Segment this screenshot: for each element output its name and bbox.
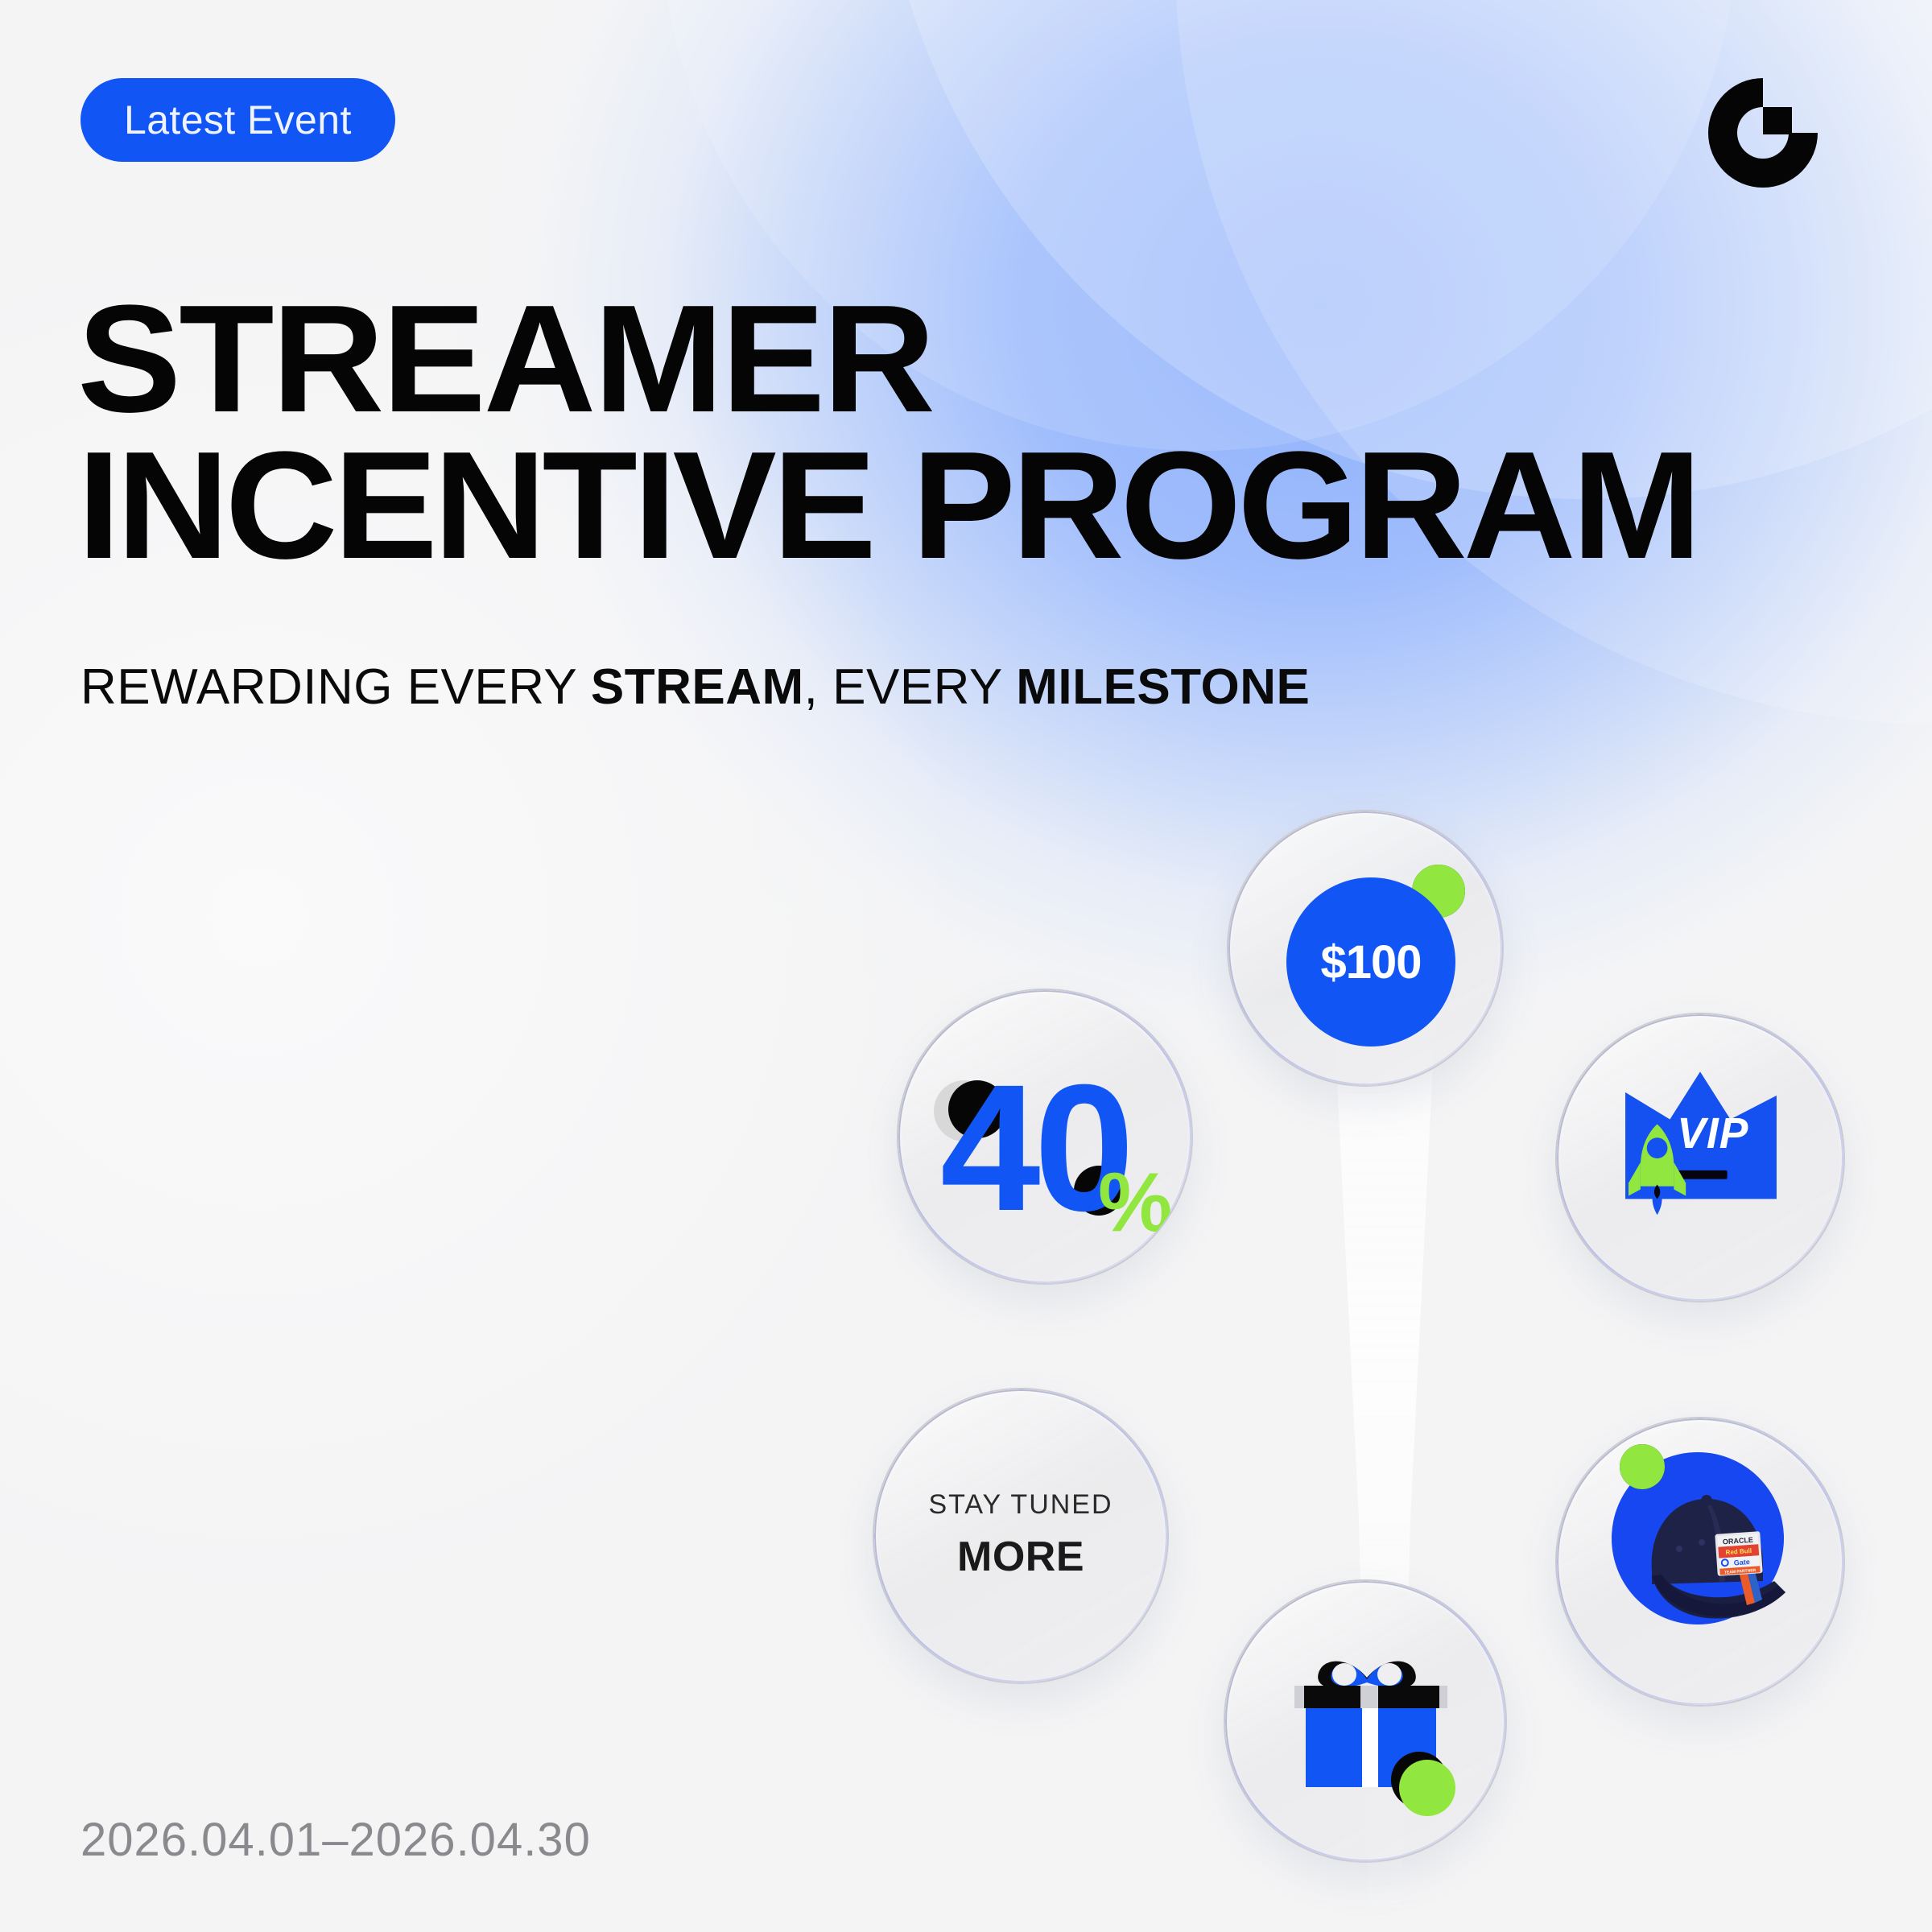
baseball-cap-icon: ORACLE Red Bull Gate TEAM PARTNER — [1557, 1418, 1843, 1705]
reward-bubble-rebate[interactable]: 40 % — [897, 989, 1193, 1285]
more-label-top: STAY TUNED — [928, 1487, 1113, 1522]
latest-event-badge[interactable]: Latest Event — [80, 78, 395, 162]
reward-bubble-vip[interactable]: VIP — [1555, 1013, 1845, 1302]
headline-line-1: STREAMER — [77, 286, 1843, 432]
crown-rocket-icon: VIP — [1557, 1013, 1843, 1302]
subtitle-bold-stream: STREAM — [591, 659, 804, 715]
more-label-main: MORE — [928, 1530, 1113, 1585]
subtitle-part-1: REWARDING EVERY — [80, 659, 591, 715]
cash-amount-circle: $100 — [1286, 877, 1455, 1046]
svg-text:Gate: Gate — [1733, 1558, 1750, 1567]
cash-circle-icon: $100 — [1228, 811, 1502, 1085]
cap-illustration: ORACLE Red Bull Gate TEAM PARTNER — [1599, 1463, 1808, 1641]
reward-bubble-cash[interactable]: $100 — [1227, 810, 1504, 1087]
svg-text:VIP: VIP — [1677, 1110, 1748, 1158]
reward-bubble-more[interactable]: STAY TUNED MORE — [873, 1388, 1169, 1684]
cash-amount-label: $100 — [1320, 935, 1421, 989]
stay-tuned-icon: STAY TUNED MORE — [928, 1487, 1113, 1585]
reward-bubble-merch[interactable]: ORACLE Red Bull Gate TEAM PARTNER — [1555, 1417, 1845, 1707]
page-title: STREAMER INCENTIVE PROGRAM — [77, 286, 1843, 580]
latest-event-badge-label: Latest Event — [124, 97, 352, 143]
event-date-range: 2026.04.01–2026.04.30 — [80, 1813, 591, 1867]
rebate-unit-label: % — [1098, 1161, 1172, 1245]
gift-green-accent-dot — [1399, 1760, 1455, 1816]
subtitle: REWARDING EVERY STREAM, EVERY MILESTONE — [80, 658, 1310, 716]
subtitle-part-2: , EVERY — [804, 659, 1017, 715]
gate-logo — [1686, 68, 1839, 197]
headline-line-2: INCENTIVE PROGRAM — [77, 432, 1843, 579]
reward-bubble-gift[interactable] — [1224, 1579, 1507, 1863]
subtitle-bold-milestone: MILESTONE — [1016, 659, 1310, 715]
gift-box-icon — [1225, 1581, 1505, 1861]
percent-icon: 40 % — [898, 990, 1191, 1283]
